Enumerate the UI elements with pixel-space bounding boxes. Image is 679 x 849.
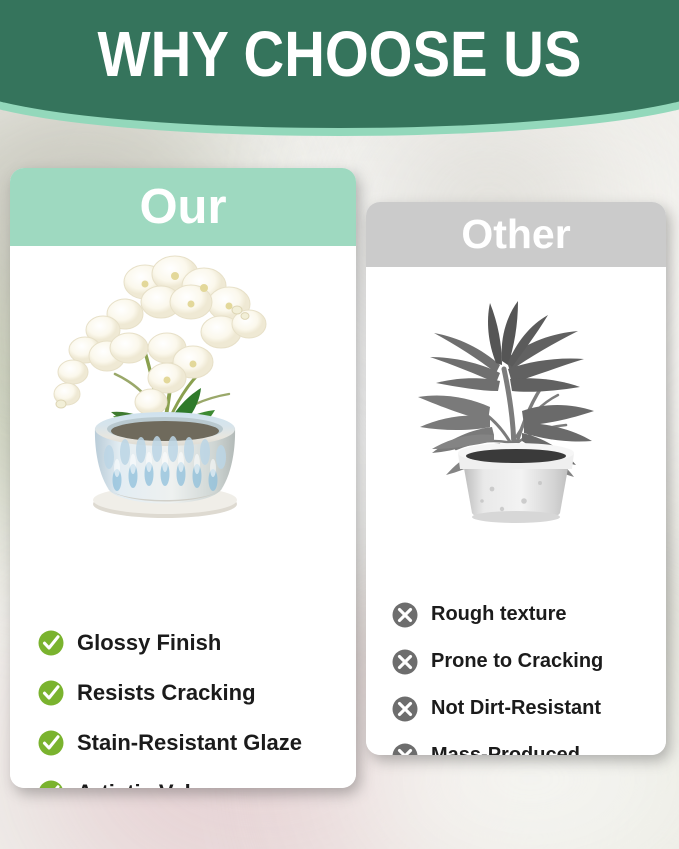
check-circle-icon: [38, 730, 64, 756]
our-product-card: Our: [10, 168, 356, 788]
list-item-label: Resists Cracking: [77, 680, 256, 706]
list-item-label: Mass-Produced: [431, 744, 580, 755]
x-circle-icon: [392, 649, 418, 675]
list-item: Rough texture: [392, 591, 666, 638]
check-circle-icon: [38, 630, 64, 656]
other-product-image: [366, 267, 666, 525]
other-product-card: Other: [366, 202, 666, 755]
other-card-heading: Other: [366, 202, 666, 267]
other-feature-list: Rough texture Prone to Cracking Not Dirt…: [366, 591, 666, 755]
list-item: Resists Cracking: [38, 668, 356, 718]
list-item-label: Artistic Value: [77, 780, 216, 788]
list-item-label: Rough texture: [431, 603, 567, 626]
why-choose-us-infographic: WHY CHOOSE US Our: [0, 0, 679, 849]
our-feature-list: Glossy Finish Resists Cracking Stain-Res…: [10, 618, 356, 788]
list-item: Artistic Value: [38, 768, 356, 788]
other-card-body: Rough texture Prone to Cracking Not Dirt…: [366, 267, 666, 755]
list-item: Not Dirt-Resistant: [392, 685, 666, 732]
our-product-image: [10, 246, 356, 516]
list-item-label: Stain-Resistant Glaze: [77, 730, 302, 756]
list-item: Stain-Resistant Glaze: [38, 718, 356, 768]
our-card-heading: Our: [10, 168, 356, 246]
check-circle-icon: [38, 680, 64, 706]
palm-plant-in-plain-pot-illustration: [396, 277, 636, 527]
page-title: WHY CHOOSE US: [41, 22, 639, 86]
list-item: Glossy Finish: [38, 618, 356, 668]
x-circle-icon: [392, 602, 418, 628]
list-item-label: Not Dirt-Resistant: [431, 697, 601, 720]
x-circle-icon: [392, 696, 418, 722]
list-item-label: Prone to Cracking: [431, 650, 603, 673]
list-item: Prone to Cracking: [392, 638, 666, 685]
list-item-label: Glossy Finish: [77, 630, 221, 656]
orchid-in-ceramic-pot-illustration: [33, 252, 333, 520]
our-card-body: Glossy Finish Resists Cracking Stain-Res…: [10, 246, 356, 788]
check-circle-icon: [38, 780, 64, 788]
x-circle-icon: [392, 743, 418, 756]
list-item: Mass-Produced: [392, 732, 666, 755]
